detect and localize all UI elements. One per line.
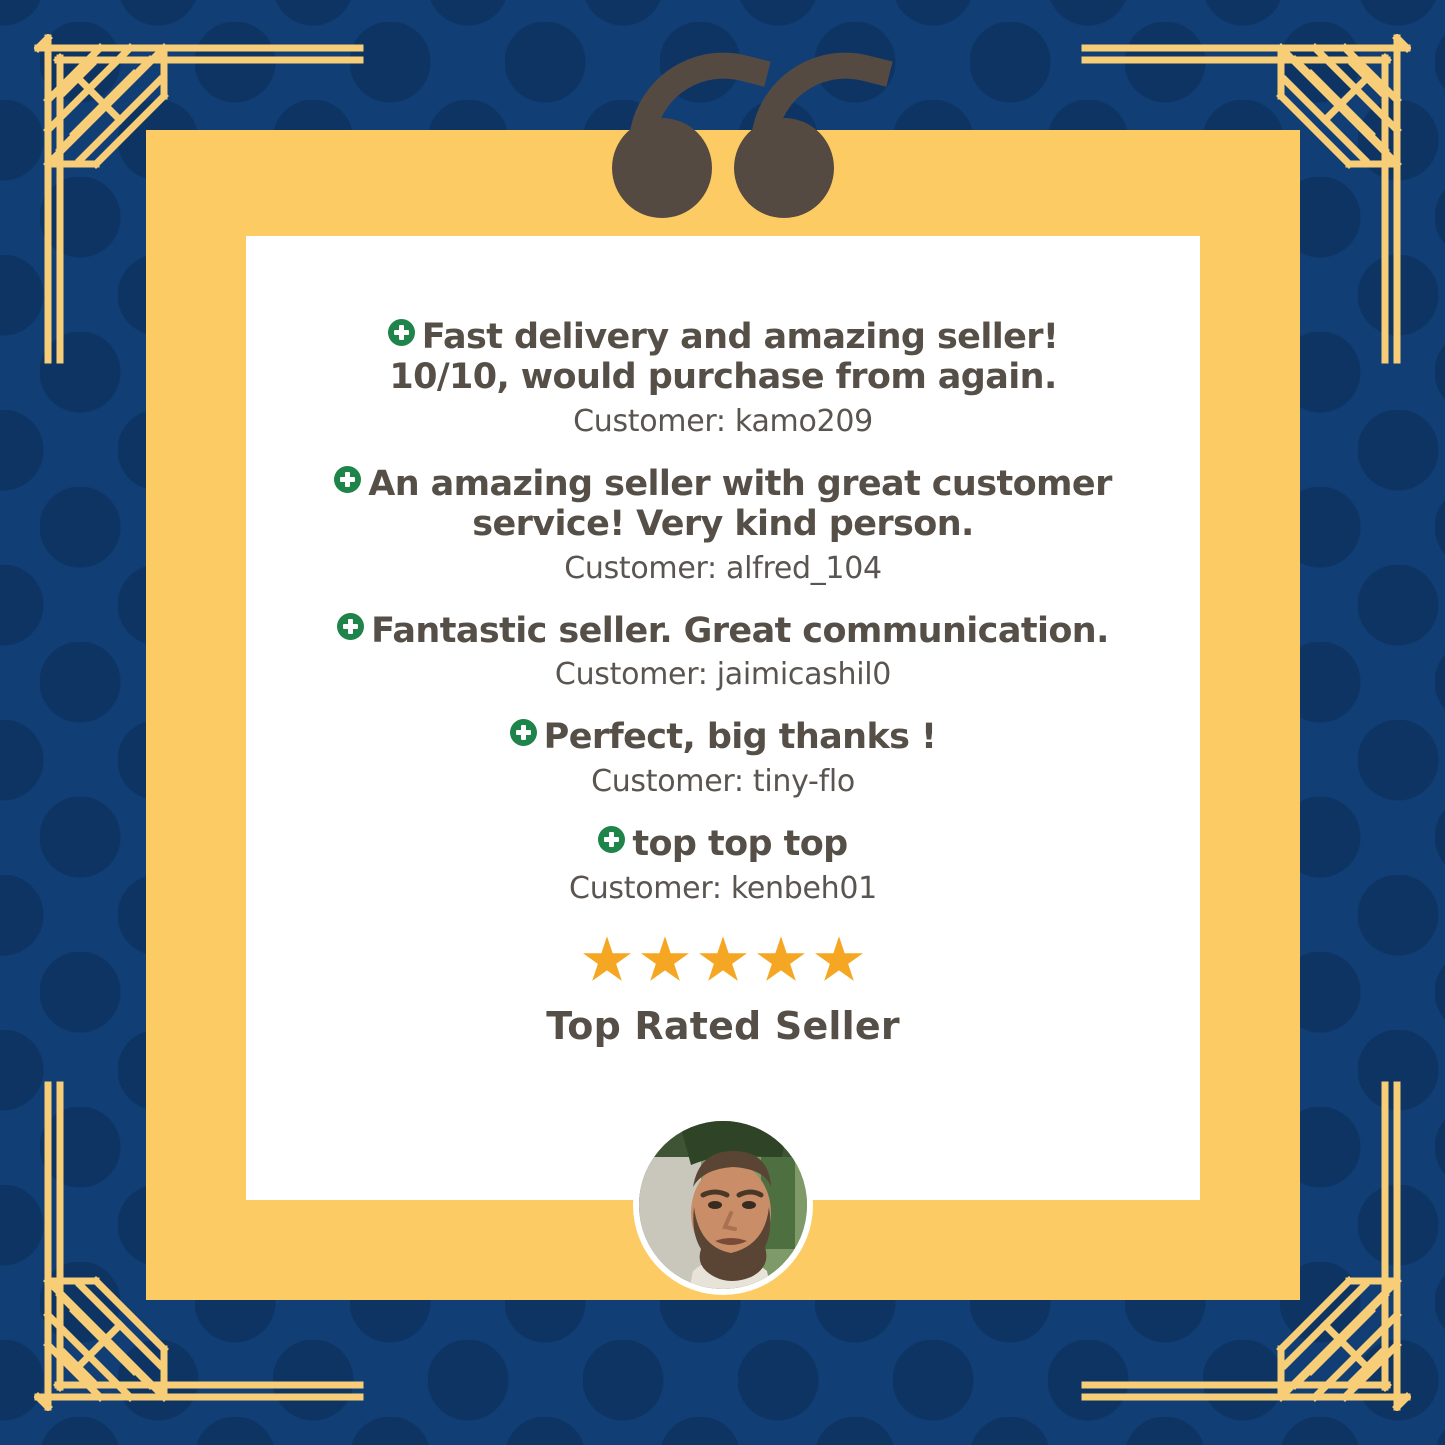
testimonial-quote-text: top top top: [632, 824, 847, 864]
positive-feedback-plus-icon: [598, 826, 625, 853]
testimonial-quote: Perfect, big thanks !: [246, 718, 1200, 758]
positive-feedback-plus-icon: [334, 466, 361, 493]
testimonial-customer: Customer: tiny-flo: [246, 764, 1200, 799]
avatar-photo: [639, 1121, 807, 1289]
positive-feedback-plus-icon: [337, 613, 364, 640]
testimonial-quote-text: Perfect, big thanks !: [544, 717, 937, 757]
testimonial-quote-text: Fast delivery and amazing seller!10/10, …: [389, 317, 1058, 397]
testimonial-list: Fast delivery and amazing seller!10/10, …: [246, 236, 1200, 1048]
positive-feedback-plus-icon: [388, 319, 415, 346]
testimonial-quote: Fast delivery and amazing seller!10/10, …: [246, 318, 1200, 398]
testimonial-item: top top top Customer: kenbeh01: [246, 825, 1200, 906]
testimonial-item: Fantastic seller. Great communication. C…: [246, 612, 1200, 693]
star-icon: [641, 936, 689, 984]
star-icon: [699, 936, 747, 984]
star-icon: [583, 936, 631, 984]
testimonial-customer: Customer: kenbeh01: [246, 871, 1200, 906]
testimonial-item: Perfect, big thanks ! Customer: tiny-flo: [246, 718, 1200, 799]
top-rated-seller-label: Top Rated Seller: [246, 1004, 1200, 1048]
testimonial-item: An amazing seller with great customerser…: [246, 465, 1200, 586]
testimonial-poster: Fast delivery and amazing seller!10/10, …: [0, 0, 1445, 1445]
avatar-portrait-illustration: [639, 1121, 807, 1289]
star-rating: [246, 936, 1200, 984]
testimonial-quote-text: Fantastic seller. Great communication.: [371, 611, 1109, 651]
testimonial-quote: An amazing seller with great customerser…: [246, 465, 1200, 545]
testimonial-quote: top top top: [246, 825, 1200, 865]
avatar: [633, 1115, 813, 1295]
testimonial-quote: Fantastic seller. Great communication.: [246, 612, 1200, 652]
testimonial-customer: Customer: alfred_104: [246, 551, 1200, 586]
testimonial-customer: Customer: jaimicashil0: [246, 657, 1200, 692]
testimonial-customer: Customer: kamo209: [246, 404, 1200, 439]
testimonial-item: Fast delivery and amazing seller!10/10, …: [246, 318, 1200, 439]
star-icon: [815, 936, 863, 984]
testimonial-quote-text: An amazing seller with great customerser…: [368, 464, 1111, 544]
star-icon: [757, 936, 805, 984]
positive-feedback-plus-icon: [510, 719, 537, 746]
